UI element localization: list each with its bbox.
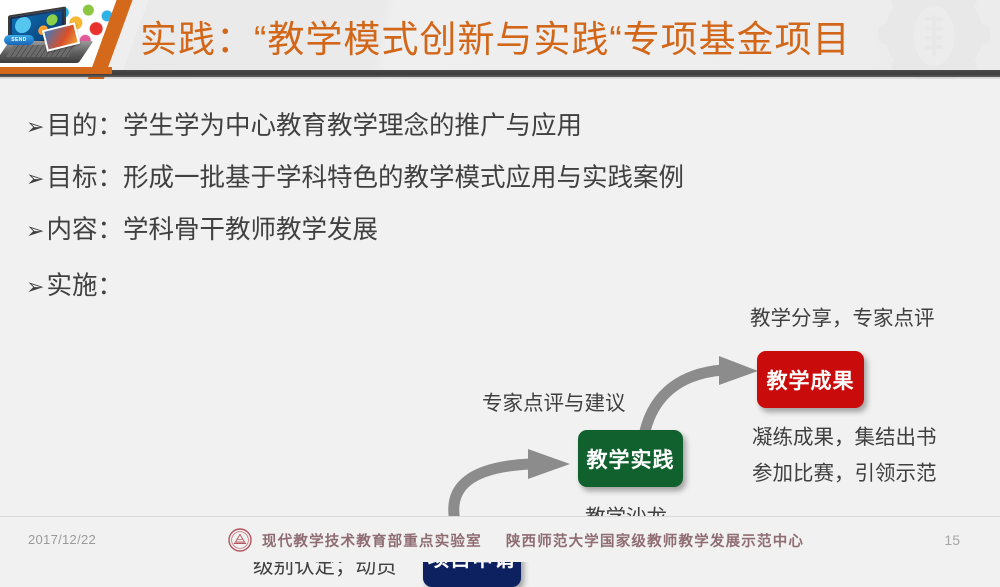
caption-compete-lead: 参加比赛，引领示范 — [752, 456, 937, 486]
header-orange-rule — [0, 67, 112, 74]
flow-arrows — [0, 79, 1000, 516]
curved-arrow-right-icon-2 — [643, 356, 758, 441]
slide-header: SEND 实践：“教学模式创新与实践“专项基金项目 — [0, 0, 1000, 79]
footer-lab-name: 现代教学技术教育部重点实验室 — [262, 530, 482, 551]
slide-footer: 2017/12/22 现代教学技术教育部重点实验室 陕西师范大学国家级教师教学发… — [0, 516, 1000, 562]
footer-page-number: 15 — [944, 532, 960, 548]
curved-arrow-right-icon-1 — [454, 449, 570, 516]
caption-condense-publish: 凝练成果，集结出书 — [752, 420, 937, 450]
university-seal-icon — [228, 528, 252, 552]
process-flow-diagram: 项目申请 教学实践 教学成果 专家修改 级别认定；动员 教学沙龙 教学观摩 专家… — [0, 79, 1000, 516]
caption-share-review: 教学分享，专家点评 — [750, 301, 935, 331]
footer-date: 2017/12/22 — [28, 532, 96, 547]
send-button-icon: SEND — [4, 35, 34, 45]
slide-content: ➢ 目的：学生学为中心教育教学理念的推广与应用 ➢ 目标：形成一批基于学科特色的… — [0, 79, 1000, 516]
node-teaching-achievement[interactable]: 教学成果 — [757, 351, 864, 408]
footer-divider — [0, 516, 1000, 517]
header-dark-rule — [0, 70, 1000, 77]
caption-expert-advice: 专家点评与建议 — [482, 386, 626, 416]
footer-center-name: 陕西师范大学国家级教师教学发展示范中心 — [506, 530, 804, 551]
footer-organizations: 现代教学技术教育部重点实验室 陕西师范大学国家级教师教学发展示范中心 — [228, 528, 804, 552]
page-title: 实践：“教学模式创新与实践“专项基金项目 — [140, 12, 910, 68]
node-teaching-practice[interactable]: 教学实践 — [578, 430, 683, 487]
